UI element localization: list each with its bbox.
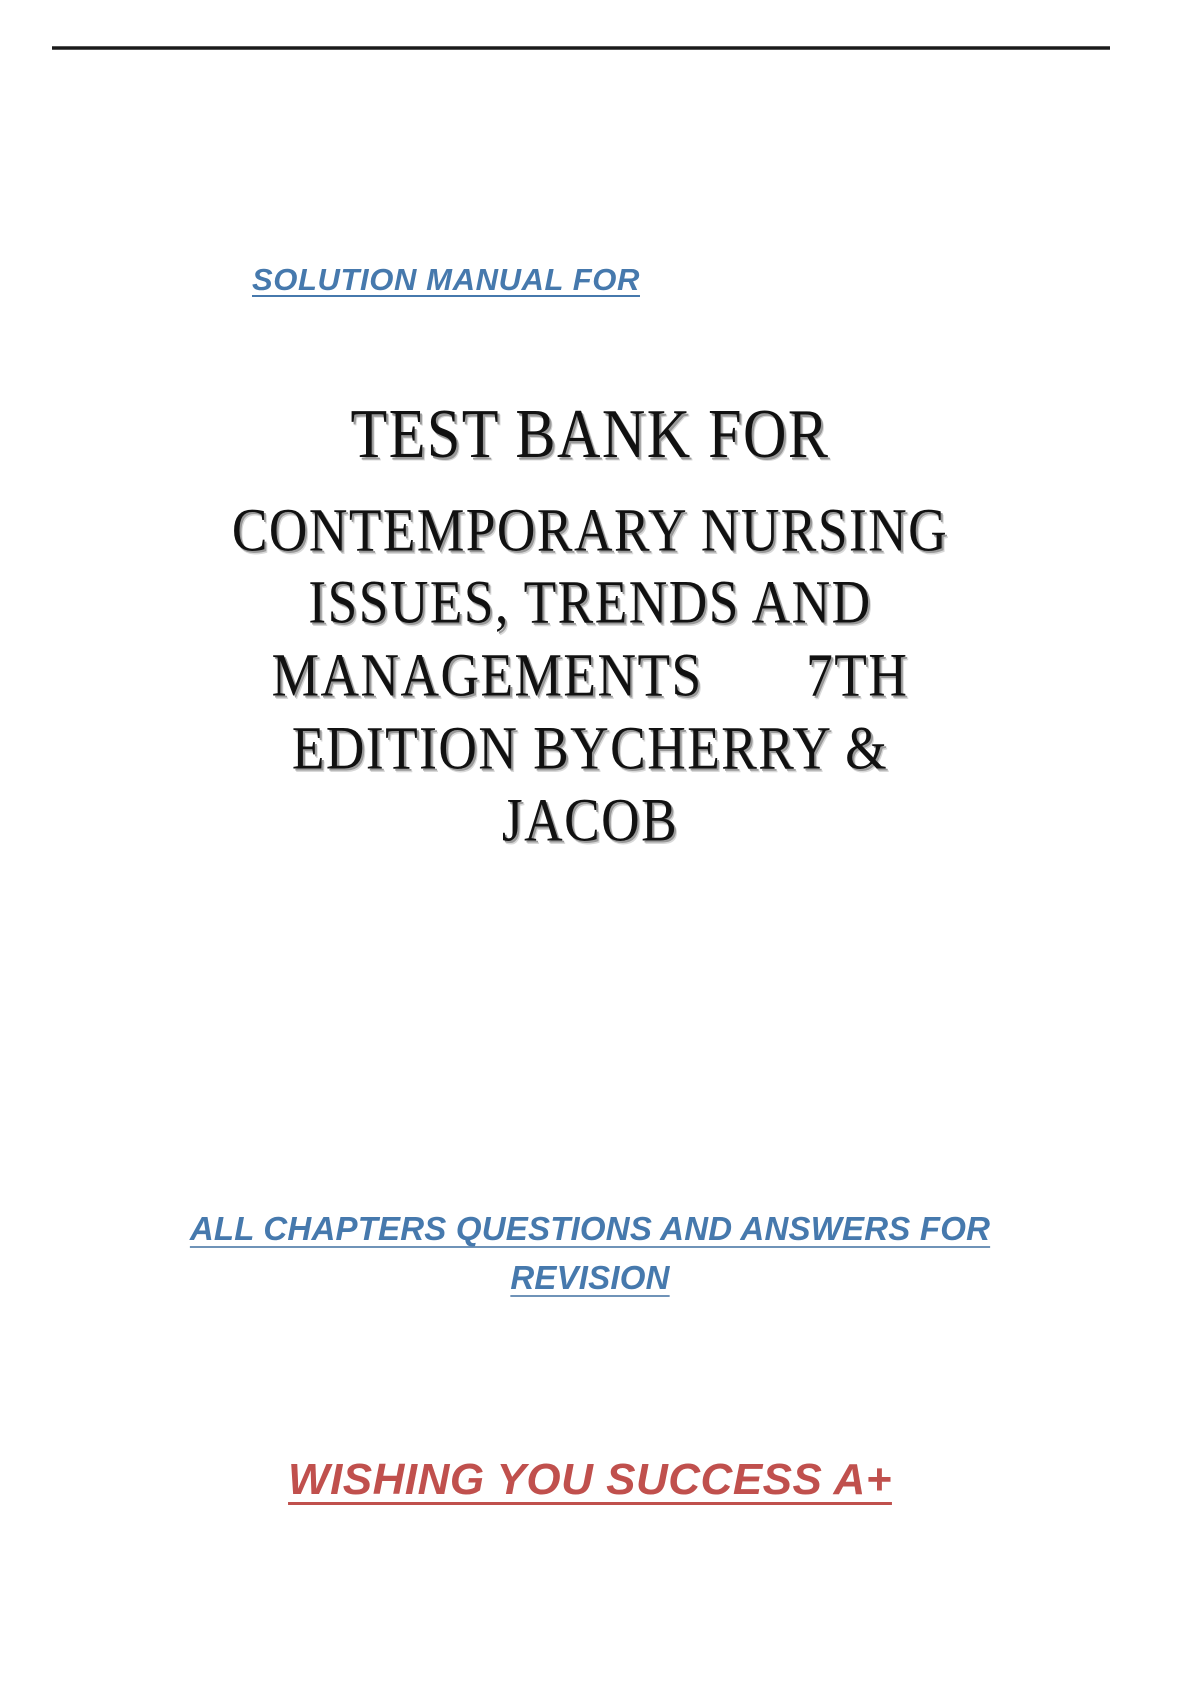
- title-line-1: TEST BANK FOR: [154, 390, 1027, 482]
- closing-message-row: WISHING YOU SUCCESS A+: [140, 1455, 1040, 1505]
- document-page: SOLUTION MANUAL FOR TEST BANK FOR CONTEM…: [0, 0, 1200, 1700]
- wishing-success-message: WISHING YOU SUCCESS A+: [288, 1455, 892, 1505]
- chapters-banner: ALL CHAPTERS QUESTIONS AND ANSWERS FOR R…: [140, 1205, 1040, 1303]
- chapters-banner-line-1: ALL CHAPTERS QUESTIONS AND ANSWERS FOR: [140, 1205, 1040, 1254]
- title-line-6: JACOB: [154, 780, 1027, 861]
- title-line-2: CONTEMPORARY NURSING: [154, 490, 1027, 571]
- main-title-block: TEST BANK FOR CONTEMPORARY NURSING ISSUE…: [140, 390, 1040, 853]
- solution-manual-kicker: SOLUTION MANUAL FOR: [252, 262, 640, 298]
- kicker-row: SOLUTION MANUAL FOR: [140, 262, 1040, 298]
- cover-content: SOLUTION MANUAL FOR TEST BANK FOR CONTEM…: [140, 0, 1040, 1700]
- title-line-4: MANAGEMENTS 7TH: [154, 635, 1027, 716]
- title-line-3: ISSUES, TRENDS AND: [154, 562, 1027, 643]
- title-line-5: EDITION BYCHERRY &: [154, 708, 1027, 789]
- chapters-banner-line-2: REVISION: [140, 1254, 1040, 1303]
